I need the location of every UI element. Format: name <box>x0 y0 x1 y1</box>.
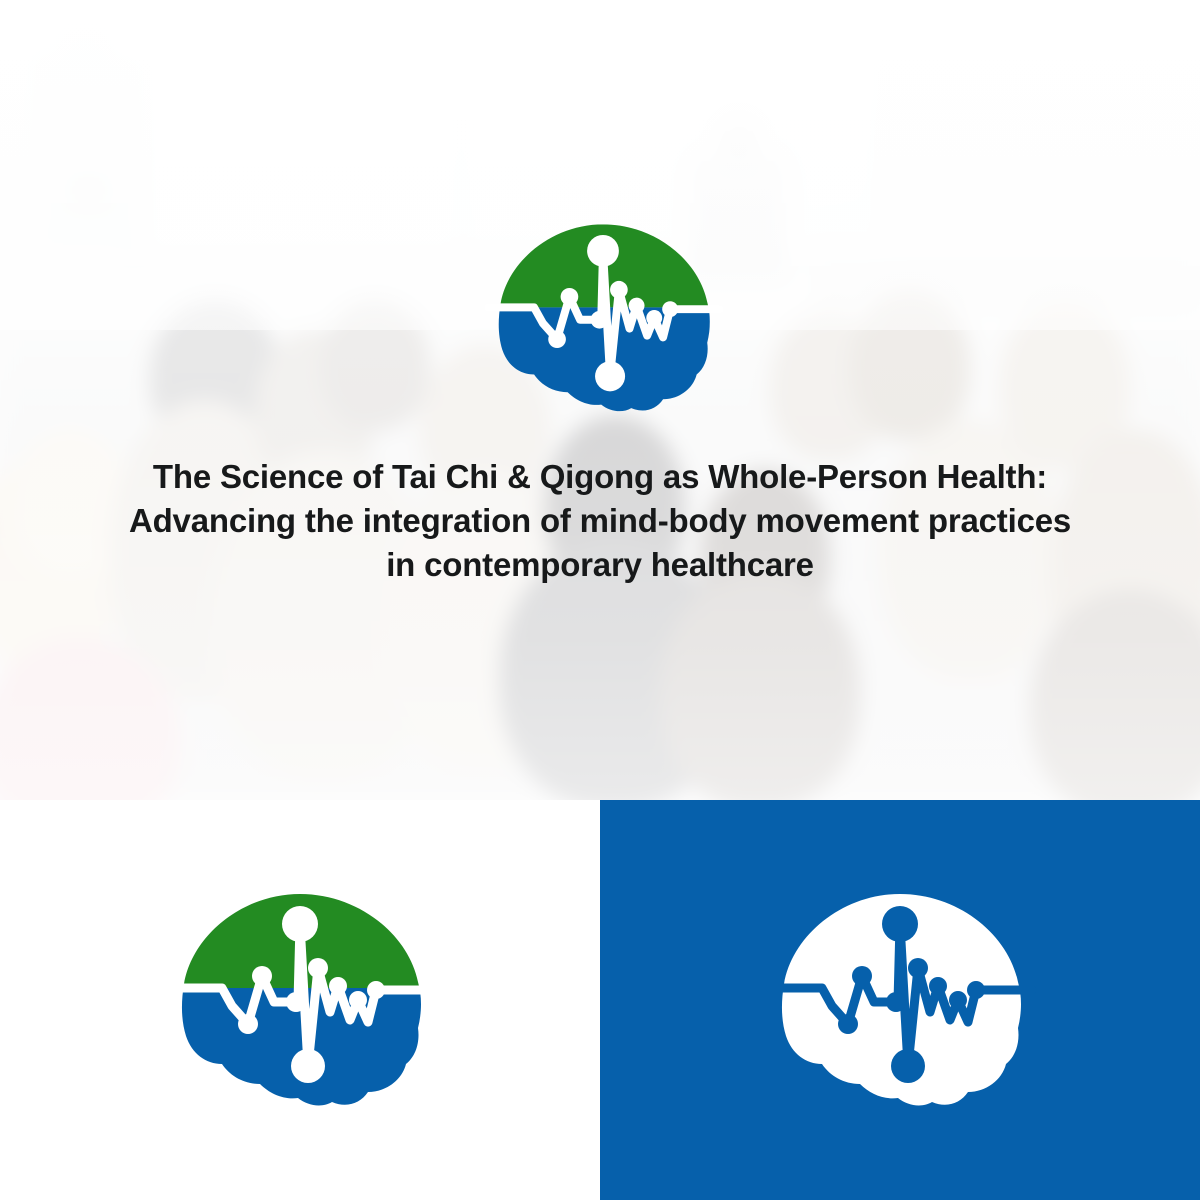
hero-section: The Science of Tai Chi & Qigong as Whole… <box>0 0 1200 800</box>
title-line-1: The Science of Tai Chi & Qigong as Whole… <box>60 455 1140 499</box>
logo-panel-blue <box>600 800 1200 1200</box>
logo-panel-white <box>0 800 600 1200</box>
slide-canvas: The Science of Tai Chi & Qigong as Whole… <box>0 0 1200 1200</box>
brain-ecg-logo-color <box>150 880 450 1120</box>
brain-ecg-logo-reversed <box>750 880 1050 1120</box>
hero-brain-ecg-logo <box>470 212 736 424</box>
title-line-3: in contemporary healthcare <box>60 543 1140 587</box>
title-line-2: Advancing the integration of mind-body m… <box>60 499 1140 543</box>
page-title: The Science of Tai Chi & Qigong as Whole… <box>0 455 1200 587</box>
